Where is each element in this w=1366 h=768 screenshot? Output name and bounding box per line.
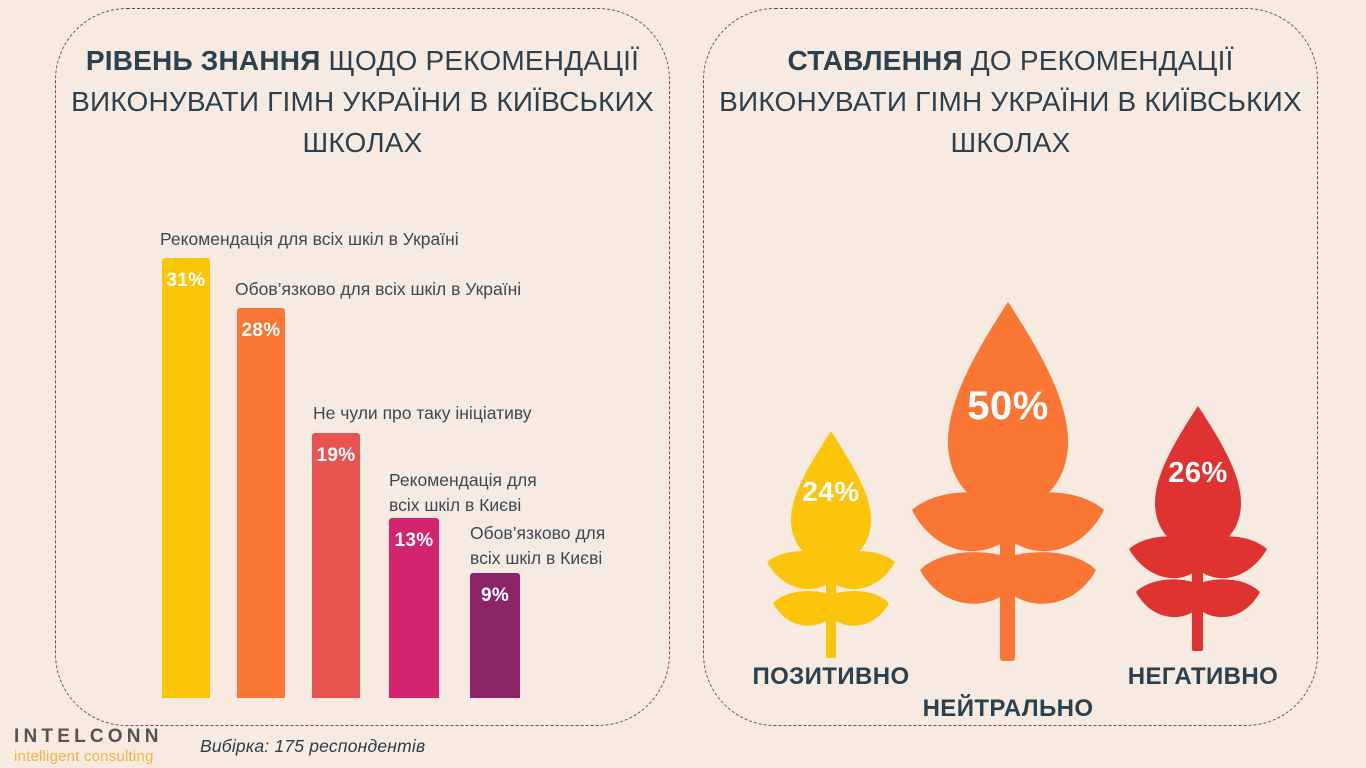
- bar-category-label: Рекомендація для всіх шкіл в Києві: [389, 468, 609, 518]
- plant-value-label: 26%: [1123, 457, 1273, 490]
- bar-item: 19%: [312, 433, 360, 698]
- bar-category-label: Обов’язково для всіх шкіл в Україні: [235, 277, 655, 302]
- bar-value-label: 19%: [312, 445, 360, 467]
- brand-logo: INTELCONN intelligent consulting: [14, 726, 189, 766]
- plant-value-label: 50%: [908, 384, 1108, 429]
- plant-value-label: 24%: [761, 476, 901, 508]
- plant-group-positive: 24%: [761, 428, 901, 663]
- plant-group-negative: 26%: [1123, 403, 1273, 656]
- bar-item: 28%: [237, 308, 285, 698]
- bar-value-label: 9%: [470, 585, 520, 607]
- plant-caption: ПОЗИТИВНО: [741, 663, 921, 691]
- bar-category-label: Не чули про таку ініціативу: [313, 401, 673, 426]
- plant-caption: НЕГАТИВНО: [1108, 663, 1298, 691]
- bar-item: 9%: [470, 573, 520, 698]
- bar-value-label: 31%: [162, 270, 210, 292]
- logo-tagline: intelligent consulting: [14, 748, 189, 766]
- bar-value-label: 28%: [237, 320, 285, 342]
- logo-wordmark: INTELCONN: [14, 726, 189, 748]
- bar-chart: 31% Рекомендація для всіх шкіл в Україні…: [0, 0, 670, 768]
- plant-icon: [761, 428, 901, 663]
- plant-group-neutral: 50%: [908, 298, 1108, 666]
- infographic-canvas: РІВЕНЬ ЗНАННЯ ЩОДО РЕКОМЕНДАЦІЇ ВИКОНУВА…: [0, 0, 1366, 768]
- bar-item: 31%: [162, 258, 210, 698]
- plant-icon: [908, 298, 1108, 666]
- plant-pictogram-chart: 24% ПОЗИТИВНО 50% НЕЙТРАЛЬНО: [703, 0, 1318, 768]
- sample-size-note: Вибірка: 175 респондентів: [200, 736, 425, 757]
- bar-category-label: Обов’язково для всіх шкіл в Києві: [470, 521, 670, 571]
- bar-item: 13%: [389, 518, 439, 698]
- bar-category-label: Рекомендація для всіх шкіл в Україні: [160, 227, 580, 252]
- plant-icon: [1123, 403, 1273, 656]
- bar-value-label: 13%: [389, 530, 439, 552]
- plant-caption: НЕЙТРАЛЬНО: [908, 695, 1108, 723]
